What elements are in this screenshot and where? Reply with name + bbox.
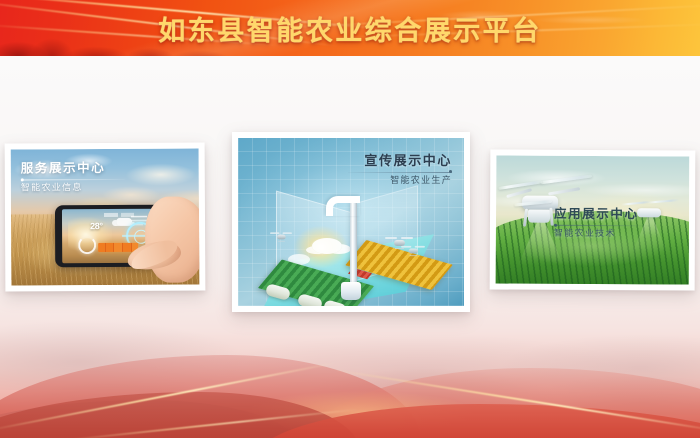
- drone-rotor: [498, 180, 542, 189]
- card-caption: 应用展示中心 智能农业技术: [554, 208, 652, 239]
- drone-rotor: [270, 232, 279, 234]
- card-caption: 宣传展示中心 智能农业生产: [348, 154, 452, 185]
- card-caption: 服务展示中心 智能农业信息: [21, 162, 125, 193]
- drone-rotor: [283, 232, 292, 234]
- light-pole-arm: [326, 196, 360, 216]
- drone-rotor: [401, 246, 411, 248]
- card-service-display-center[interactable]: 28° 服务展示中心 智能农业信息: [5, 142, 206, 291]
- drone-rotor: [647, 199, 679, 204]
- temperature-readout: 28°: [90, 221, 103, 231]
- card-divider: [554, 225, 652, 227]
- cloud-shape: [312, 238, 342, 254]
- hand-holding-phone: [121, 186, 200, 285]
- drone-rotor: [540, 174, 592, 183]
- drone-rotor: [415, 246, 425, 248]
- card-image-frame: 应用展示中心 智能农业技术: [496, 155, 690, 284]
- card-subtitle: 智能农业信息: [21, 183, 125, 193]
- hand-palm: [145, 196, 199, 282]
- page-title: 如东县智能农业综合展示平台: [0, 0, 700, 56]
- card-title: 服务展示中心: [21, 162, 125, 176]
- platform-landing-page: 如东县智能农业综合展示平台 28°: [0, 0, 700, 438]
- drone-leg: [278, 239, 285, 242]
- drone-icon: [271, 232, 291, 243]
- card-title: 宣传展示中心: [348, 154, 452, 168]
- card-divider: [21, 179, 125, 181]
- card-image-frame: 28° 服务展示中心 智能农业信息: [11, 149, 200, 286]
- drone-leg: [410, 253, 418, 256]
- card-subtitle: 智能农业技术: [554, 229, 652, 239]
- card-image-frame: 宣传展示中心 智能农业生产: [238, 138, 464, 306]
- water-tank: [341, 282, 361, 300]
- card-promotion-display-center[interactable]: 宣传展示中心 智能农业生产: [232, 132, 470, 312]
- drone-rotor: [385, 237, 397, 239]
- hud-ring-left-icon: [78, 236, 96, 254]
- drone-rotor: [401, 237, 413, 239]
- card-divider: [348, 172, 452, 173]
- card-title: 应用展示中心: [554, 208, 652, 222]
- card-subtitle: 智能农业生产: [348, 176, 452, 185]
- card-application-display-center[interactable]: 应用展示中心 智能农业技术: [490, 149, 696, 290]
- drone-icon: [402, 245, 424, 257]
- drone-arm: [548, 187, 580, 195]
- drone-tank: [528, 210, 550, 223]
- page-header-banner: 如东县智能农业综合展示平台: [0, 0, 700, 56]
